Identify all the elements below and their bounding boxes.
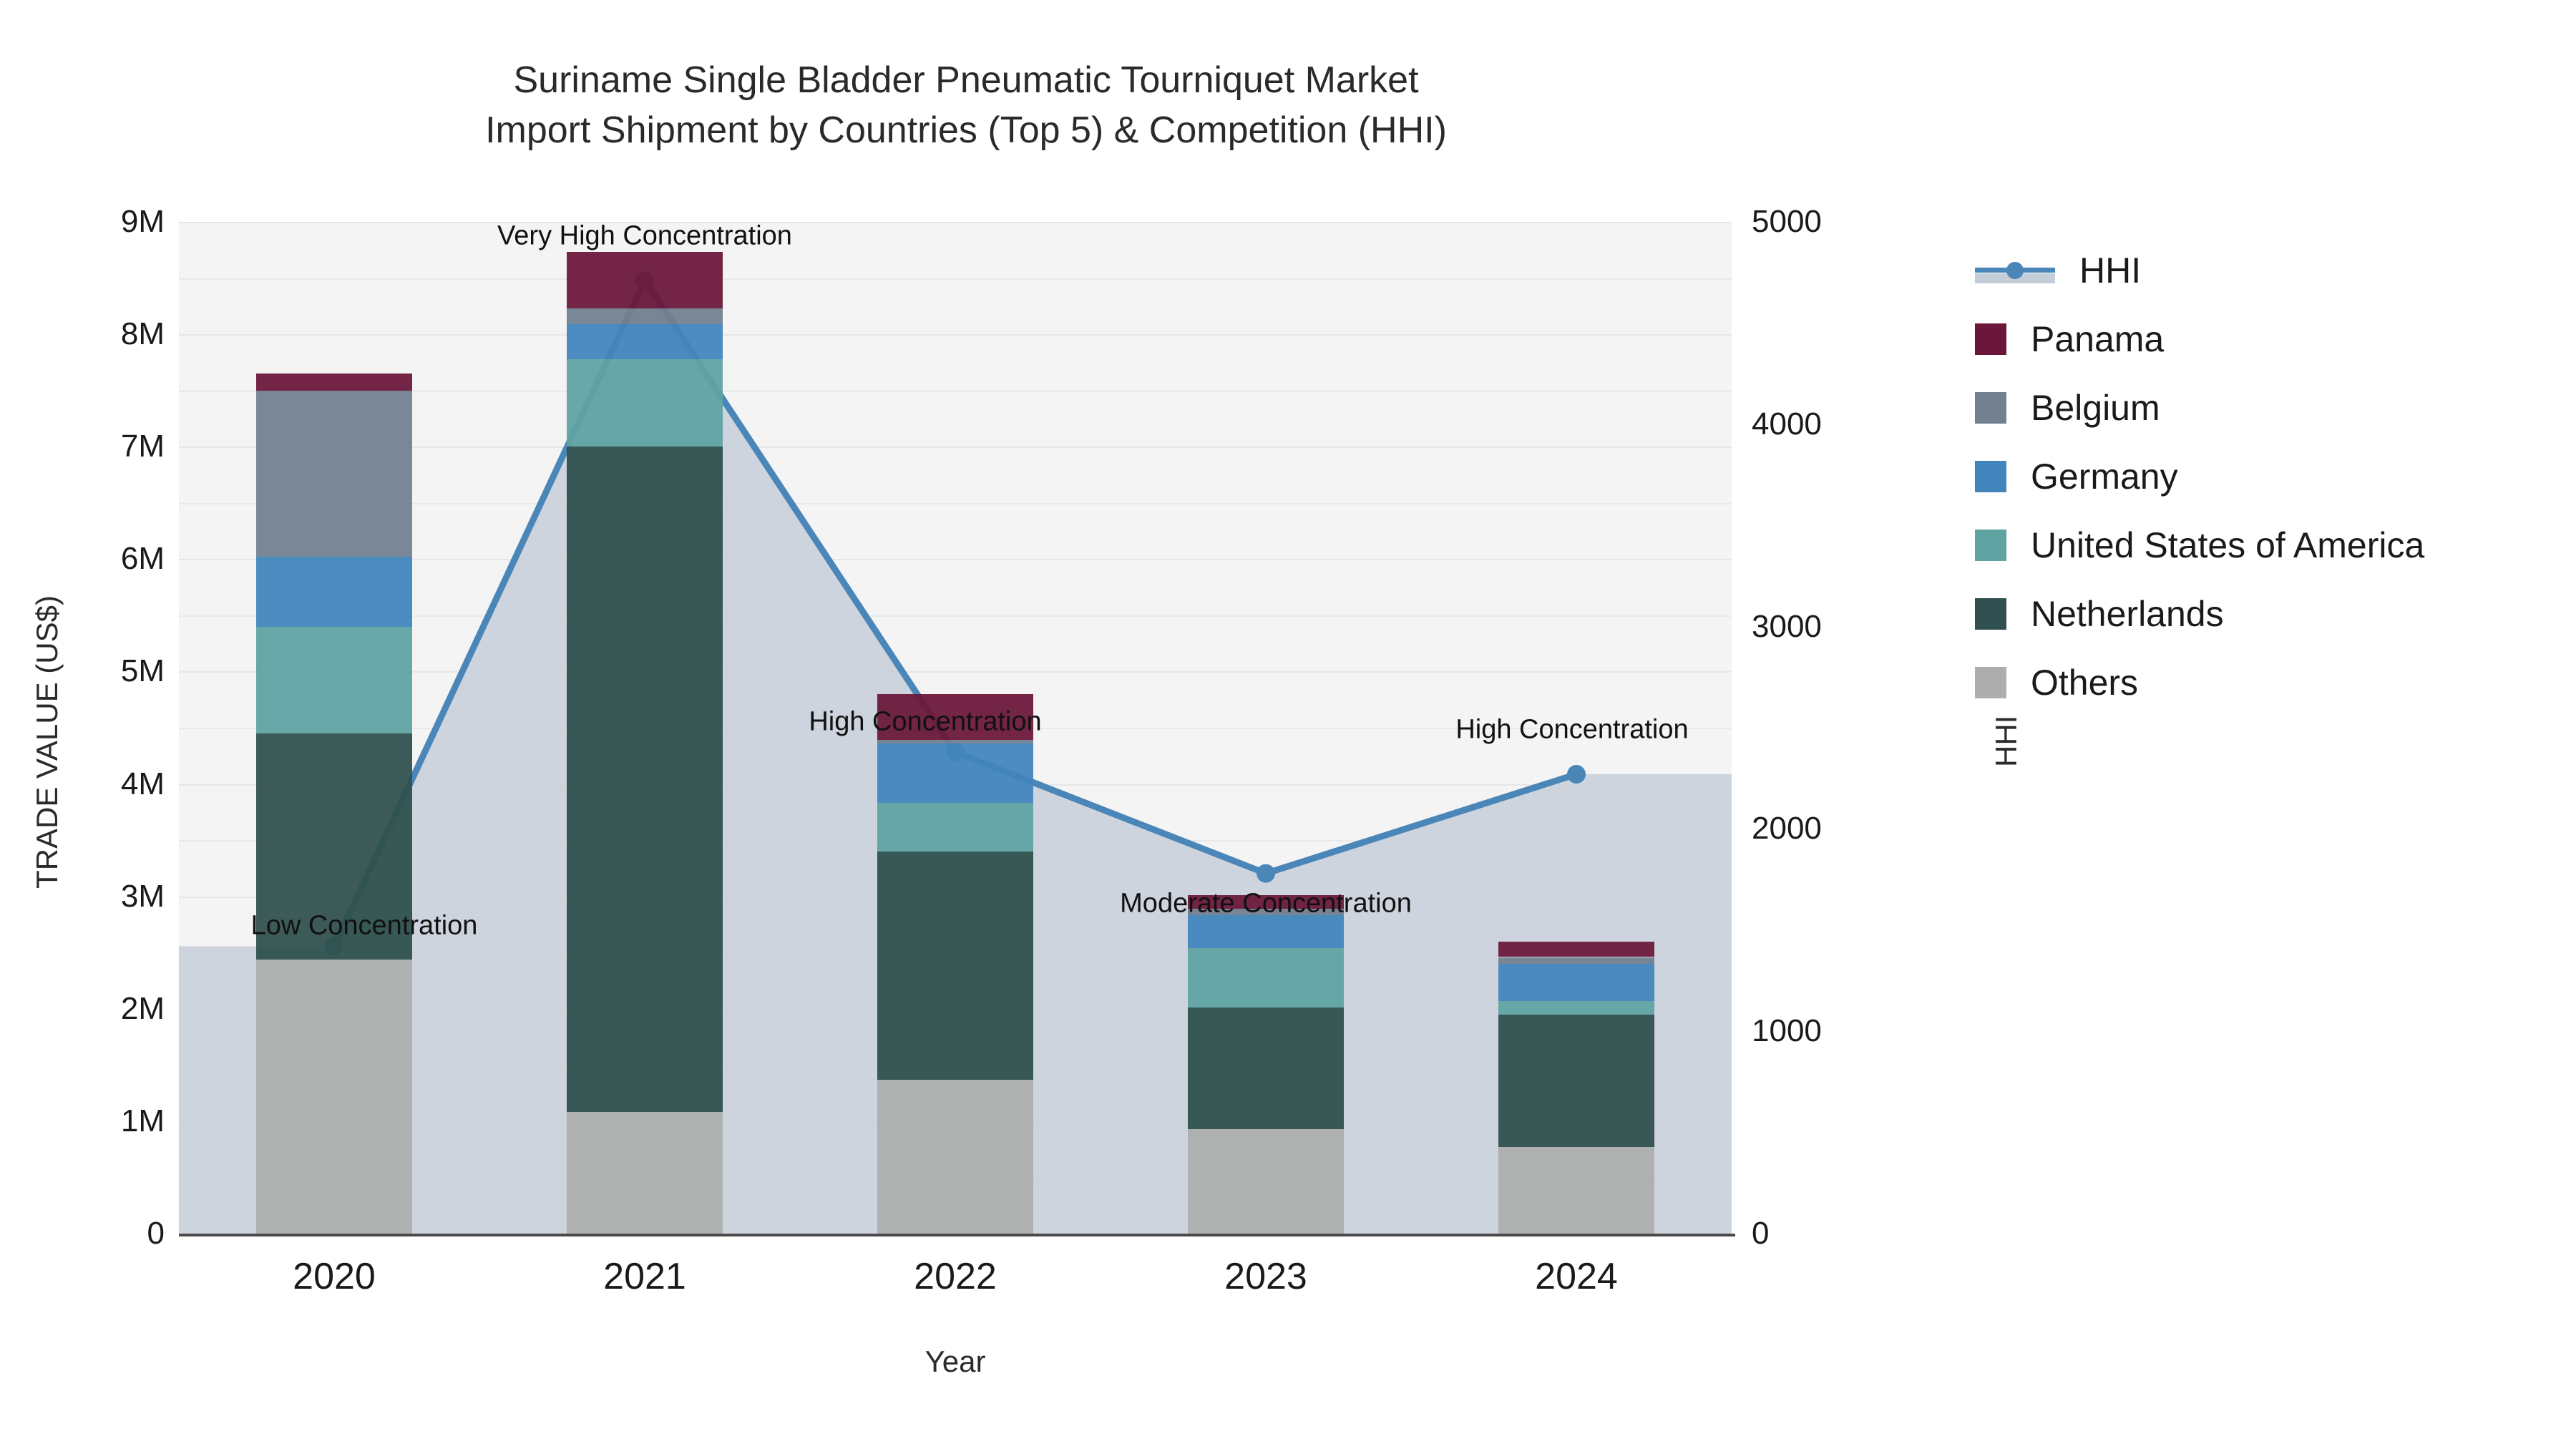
hhi-line-icon: [1975, 255, 2055, 286]
y-axis-right-tick-label: 5000: [1752, 204, 1916, 240]
plot-area: Low ConcentrationVery High Concentration…: [179, 222, 1732, 1234]
y-axis-left-tick-label: 6M: [21, 541, 165, 577]
legend-item[interactable]: Panama: [1975, 305, 2424, 374]
hhi-annotation: Moderate Concentration: [1120, 888, 1412, 919]
y-axis-right-tick-label: 0: [1752, 1216, 1916, 1252]
hhi-annotation: High Concentration: [1455, 715, 1688, 746]
y-axis-right-tick-label: 4000: [1752, 406, 1916, 442]
y-axis-left-tick-label: 2M: [21, 991, 165, 1027]
hhi-annotation: Low Concentration: [251, 911, 478, 942]
x-axis-line: [179, 1234, 1735, 1236]
legend-item-label: Belgium: [2031, 387, 2160, 429]
chart-title-line-1: Suriname Single Bladder Pneumatic Tourni…: [0, 56, 1932, 106]
x-axis-tick-label: 2021: [603, 1255, 686, 1298]
y-axis-left-tick-label: 1M: [21, 1103, 165, 1139]
x-axis-tick-label: 2020: [293, 1255, 376, 1298]
legend-item[interactable]: HHI: [1975, 236, 2424, 305]
legend-item[interactable]: Netherlands: [1975, 580, 2424, 648]
legend-color-swatch: [1975, 530, 2006, 561]
y-axis-right-tick-label: 2000: [1752, 811, 1916, 847]
legend-item-label: Netherlands: [2031, 593, 2224, 635]
x-axis-tick-label: 2024: [1535, 1255, 1618, 1298]
chart-title-line-2: Import Shipment by Countries (Top 5) & C…: [0, 106, 1932, 156]
y-axis-left-tick-label: 8M: [21, 316, 165, 352]
annotations-layer: Low ConcentrationVery High Concentration…: [179, 222, 1732, 1234]
y-axis-left-title: TRADE VALUE (US$): [30, 595, 64, 889]
x-axis-tick-label: 2023: [1224, 1255, 1307, 1298]
hhi-annotation: High Concentration: [809, 706, 1041, 737]
chart-title: Suriname Single Bladder Pneumatic Tourni…: [0, 56, 1932, 155]
legend-color-swatch: [1975, 323, 2006, 355]
legend-color-swatch: [1975, 461, 2006, 492]
chart-root: Suriname Single Bladder Pneumatic Tourni…: [0, 0, 2576, 1449]
legend-color-swatch: [1975, 598, 2006, 630]
legend-color-swatch: [1975, 667, 2006, 698]
y-axis-left-tick-label: 0: [21, 1216, 165, 1252]
legend-item-label: United States of America: [2031, 525, 2424, 566]
legend-item[interactable]: United States of America: [1975, 511, 2424, 580]
legend-item[interactable]: Belgium: [1975, 374, 2424, 442]
y-axis-right-tick-label: 1000: [1752, 1013, 1916, 1049]
legend-item-label: Others: [2031, 662, 2138, 703]
x-axis-title: Year: [179, 1345, 1732, 1379]
y-axis-left-tick-label: 9M: [21, 204, 165, 240]
legend-item-label: Panama: [2031, 318, 2164, 360]
hhi-annotation: Very High Concentration: [497, 221, 792, 252]
y-axis-right-title: HHI: [1989, 716, 2024, 767]
y-axis-right-tick-label: 3000: [1752, 609, 1916, 645]
legend-color-swatch: [1975, 392, 2006, 424]
x-axis-tick-label: 2022: [914, 1255, 997, 1298]
legend-item[interactable]: Others: [1975, 648, 2424, 717]
legend-item-label: Germany: [2031, 456, 2178, 497]
y-axis-left-tick-label: 7M: [21, 429, 165, 464]
legend-item-label: HHI: [2079, 250, 2141, 291]
chart-legend: HHIPanamaBelgiumGermanyUnited States of …: [1975, 236, 2424, 717]
legend-item[interactable]: Germany: [1975, 442, 2424, 511]
